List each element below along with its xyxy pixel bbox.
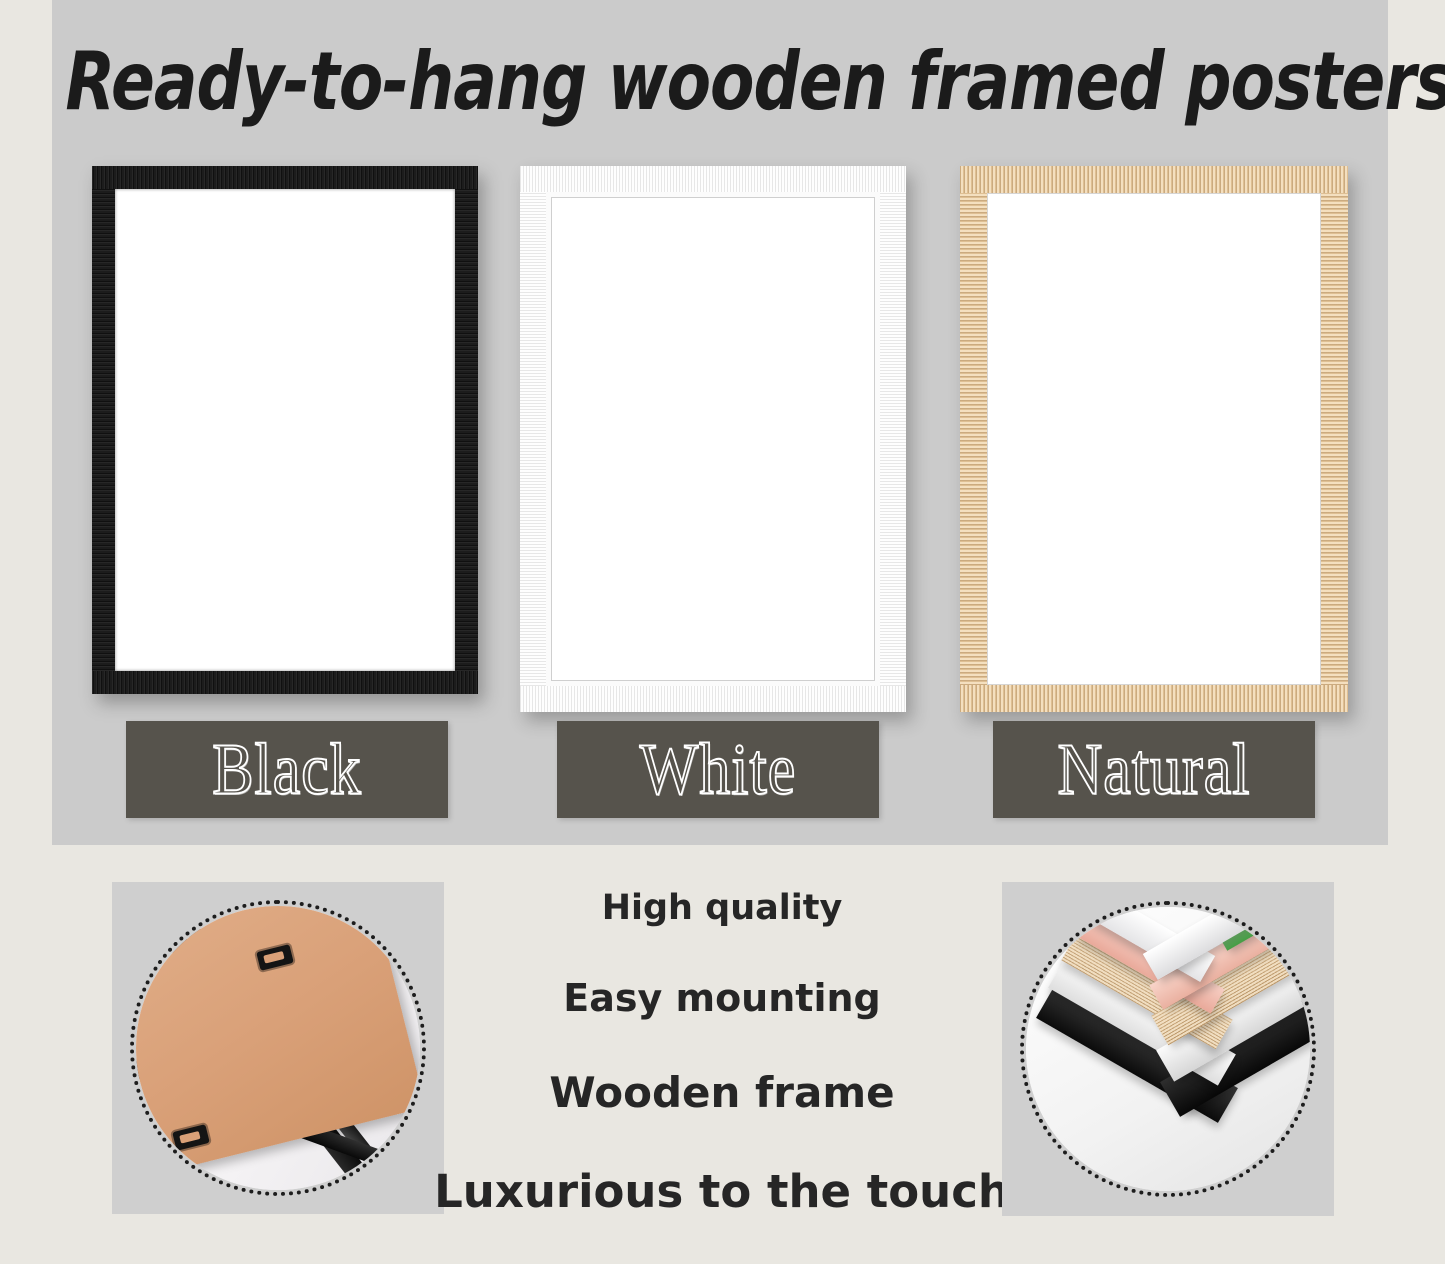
feature-item: High quality	[602, 888, 843, 928]
frame-white	[520, 166, 906, 712]
frame-black	[92, 166, 478, 694]
color-label-text: White	[640, 733, 797, 806]
infographic-page: Ready-to-hang wooden framed posters	[0, 0, 1445, 1264]
poster-area-black	[115, 189, 455, 671]
feature-item: Luxurious to the touch	[434, 1165, 1010, 1218]
color-label-text: Natural	[1058, 733, 1251, 806]
frame-card-natural[interactable]	[960, 166, 1348, 712]
color-label-black[interactable]: Black	[126, 721, 448, 818]
frame-card-black[interactable]	[92, 166, 478, 694]
feature-item: Easy mounting	[563, 976, 880, 1020]
feature-item: Wooden frame	[549, 1068, 894, 1117]
dotted-ring-border	[1020, 901, 1316, 1197]
detail-photo-back-of-frame	[112, 882, 444, 1214]
detail-photo-frame-corner-stack	[1002, 882, 1334, 1216]
feature-list: High quality Easy mounting Wooden frame …	[452, 888, 992, 1218]
frame-card-white[interactable]	[520, 166, 906, 712]
poster-area-natural	[987, 193, 1321, 685]
showcase-panel: Ready-to-hang wooden framed posters	[52, 0, 1388, 845]
dotted-ring-border	[130, 900, 426, 1196]
color-label-white[interactable]: White	[557, 721, 879, 818]
frame-natural	[960, 166, 1348, 712]
color-label-text: Black	[212, 733, 362, 806]
page-title: Ready-to-hang wooden framed posters	[65, 36, 1374, 129]
color-label-natural[interactable]: Natural	[993, 721, 1315, 818]
poster-area-white	[552, 198, 874, 680]
